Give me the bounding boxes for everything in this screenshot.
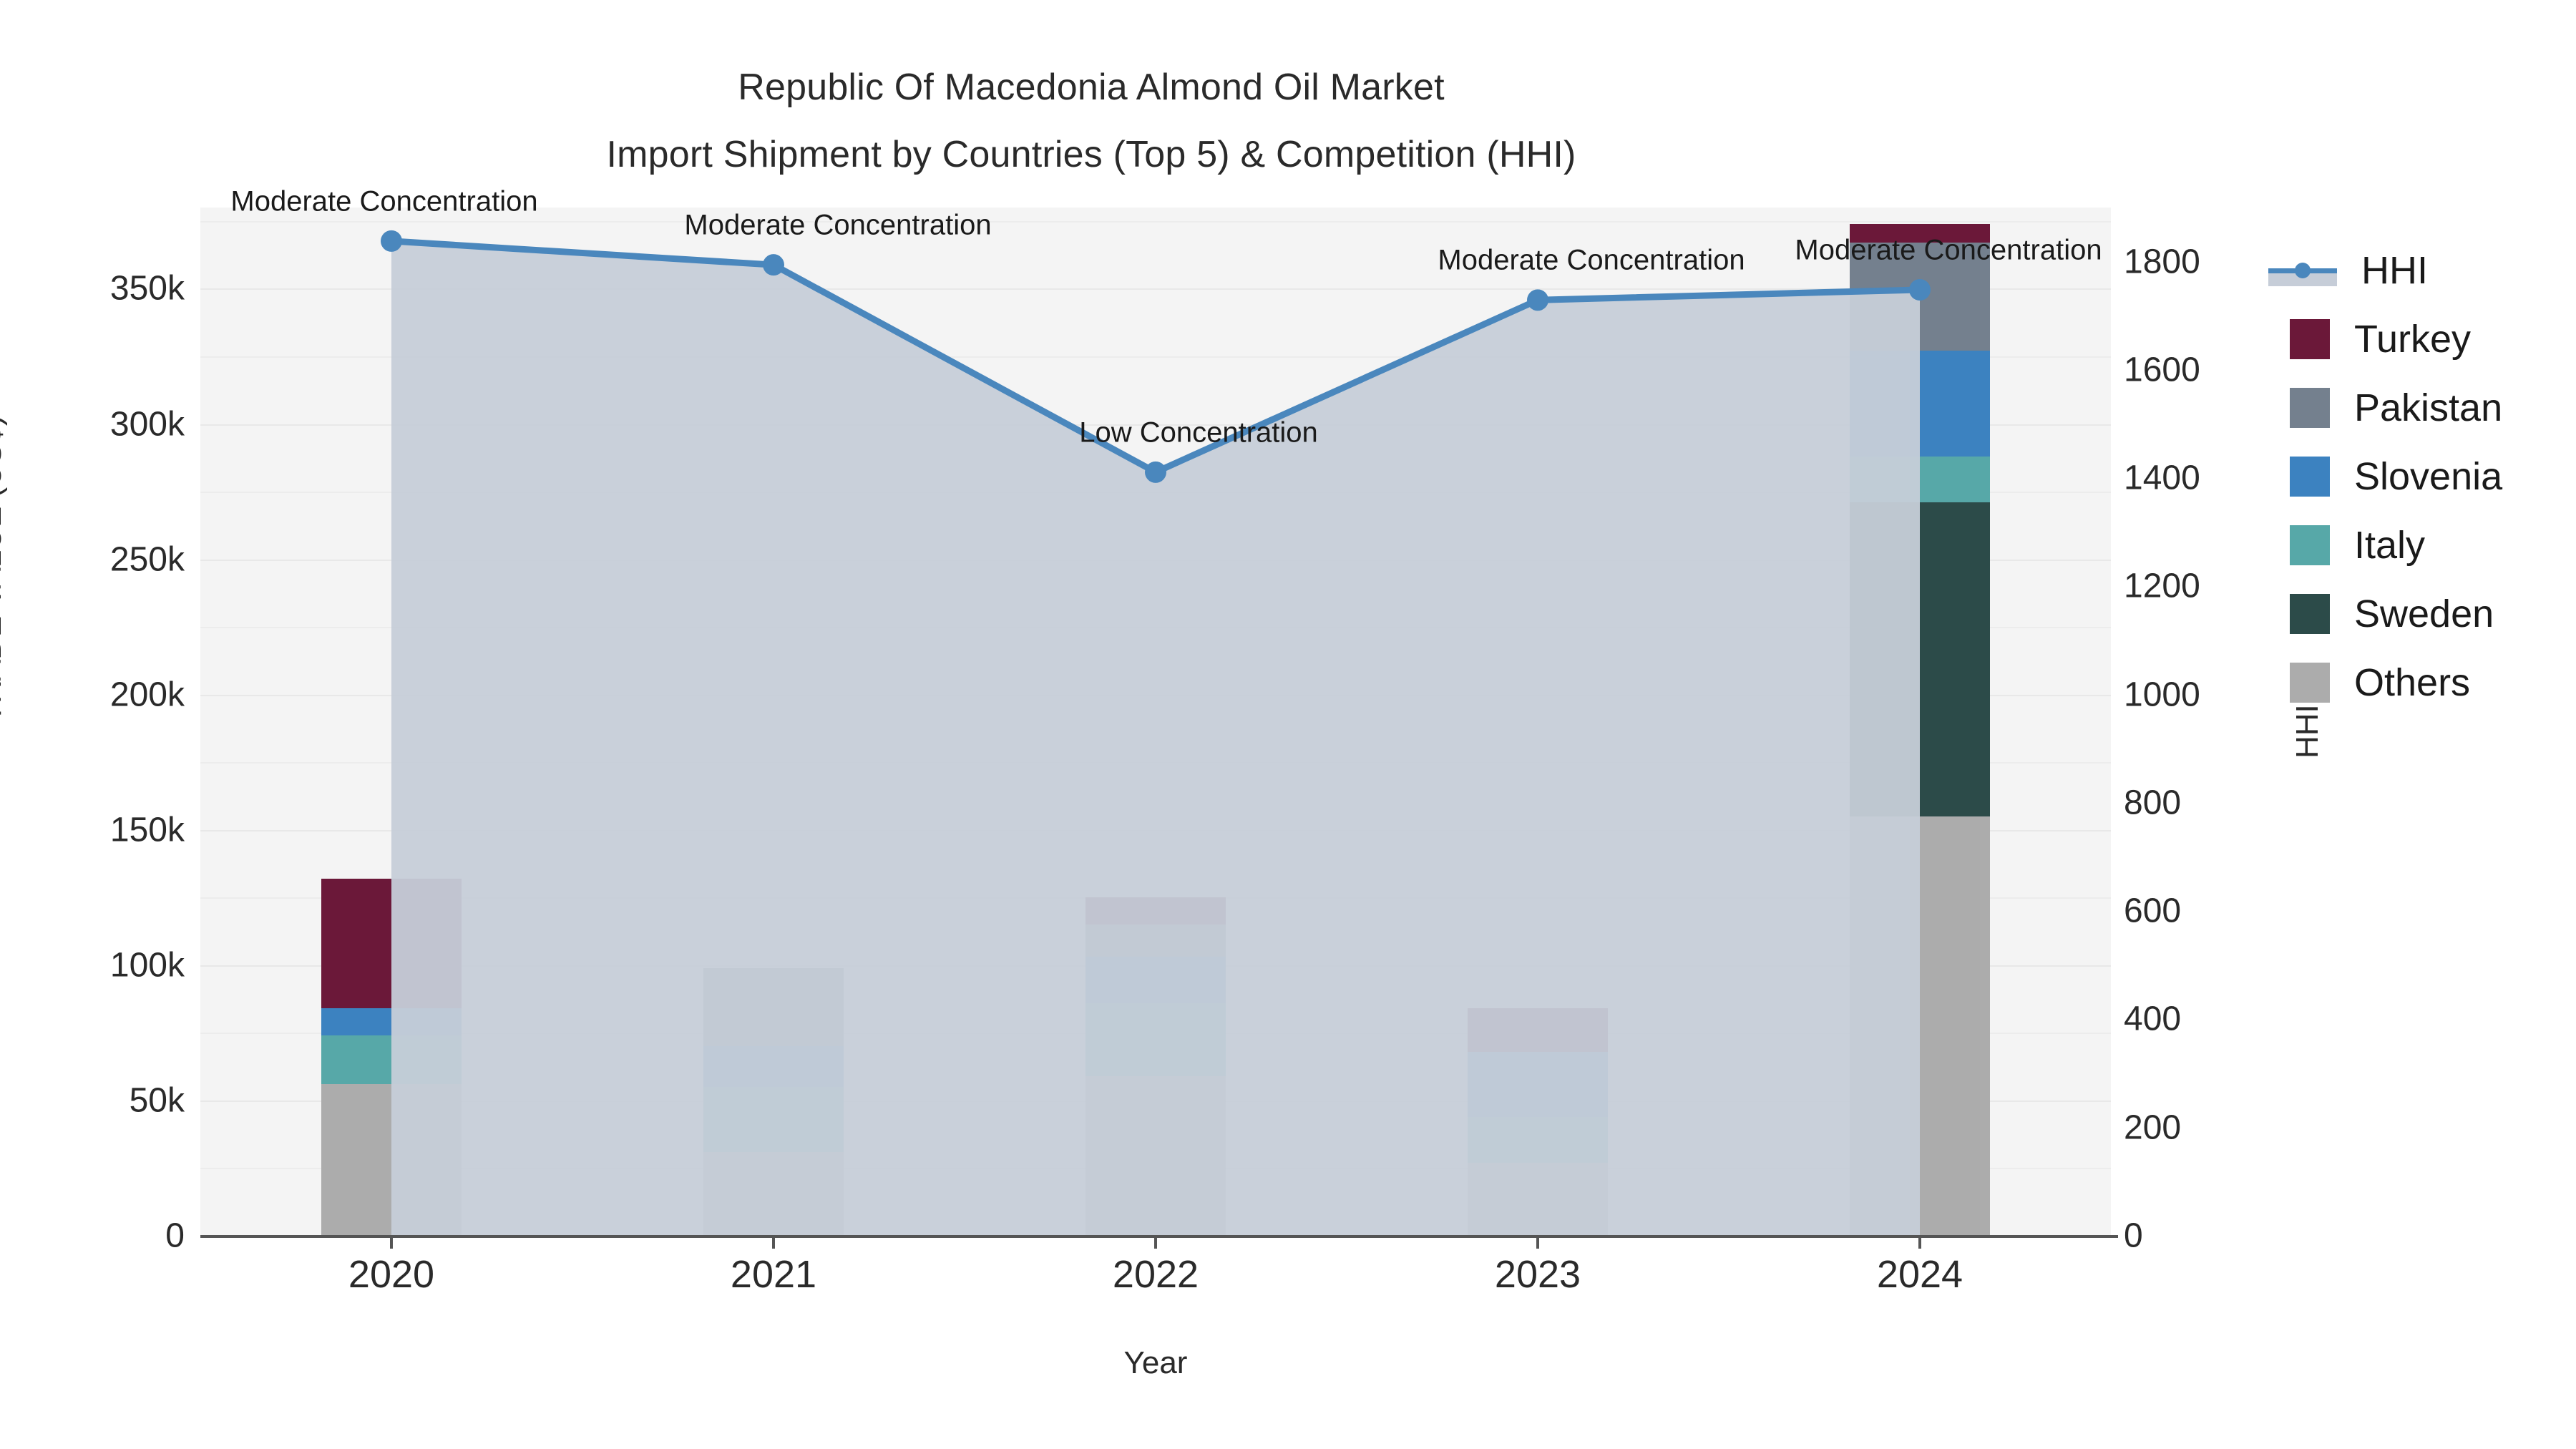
bar-segment-slovenia-2021[interactable]: [703, 1046, 844, 1087]
bar-segment-slovenia-2024[interactable]: [1850, 351, 1990, 456]
legend-item-label: Others: [2354, 660, 2470, 705]
legend-color-swatch: [2290, 457, 2330, 497]
chart-canvas: Republic Of Macedonia Almond Oil Market …: [0, 0, 2576, 1449]
y-tick-left: 200k: [0, 675, 185, 714]
y-tick-right: 1800: [2124, 242, 2281, 281]
gridline: [200, 492, 2111, 493]
legend-color-swatch: [2290, 319, 2330, 359]
bar-segment-pakistan-2021[interactable]: [703, 968, 844, 1047]
chart-subtitle: Import Shipment by Countries (Top 5) & C…: [0, 121, 2182, 188]
y-tick-right: 800: [2124, 783, 2281, 822]
bar-segment-slovenia-2020[interactable]: [321, 1008, 462, 1035]
legend-item-label: Sweden: [2354, 592, 2494, 636]
y-tick-left: 300k: [0, 404, 185, 444]
x-tick-mark: [772, 1236, 775, 1249]
x-tick-mark: [1536, 1236, 1539, 1249]
x-tick-2024: 2024: [1877, 1252, 1963, 1297]
annotation-2020: Moderate Concentration: [230, 185, 537, 218]
legend-item-sweden[interactable]: Sweden: [2283, 580, 2569, 648]
legend-item-slovenia[interactable]: Slovenia: [2283, 442, 2569, 511]
bar-segment-others-2022[interactable]: [1085, 1076, 1226, 1236]
y-tick-right: 1200: [2124, 567, 2281, 606]
legend-item-label: Turkey: [2354, 317, 2471, 361]
annotation-2024: Moderate Concentration: [1795, 234, 2102, 266]
bar-segment-others-2021[interactable]: [703, 1152, 844, 1236]
legend-item-label: Slovenia: [2354, 454, 2502, 499]
bar-segment-italy-2020[interactable]: [321, 1035, 462, 1084]
x-tick-2022: 2022: [1113, 1252, 1199, 1297]
y-tick-right: 600: [2124, 892, 2281, 931]
plot-area: [200, 208, 2111, 1236]
gridline: [200, 356, 2111, 358]
bar-segment-others-2024[interactable]: [1850, 816, 1990, 1236]
bar-segment-sweden-2024[interactable]: [1850, 502, 1990, 816]
bar-segment-slovenia-2023[interactable]: [1468, 1052, 1608, 1117]
legend-item-label: HHI: [2361, 248, 2428, 293]
legend-item-italy[interactable]: Italy: [2283, 511, 2569, 580]
gridline: [200, 695, 2111, 696]
x-tick-mark: [1154, 1236, 1157, 1249]
legend-item-turkey[interactable]: Turkey: [2283, 305, 2569, 374]
bar-segment-slovenia-2022[interactable]: [1085, 957, 1226, 1002]
annotation-2022: Low Concentration: [1079, 416, 1318, 449]
y-tick-right: 200: [2124, 1108, 2281, 1147]
legend-color-swatch: [2290, 525, 2330, 565]
gridline: [200, 627, 2111, 628]
y-tick-left: 0: [0, 1216, 185, 1256]
x-tick-2021: 2021: [731, 1252, 816, 1297]
legend-color-swatch: [2290, 388, 2330, 428]
legend-color-swatch: [2290, 663, 2330, 703]
gridline: [200, 221, 2111, 223]
x-tick-mark: [1918, 1236, 1921, 1249]
legend-item-others[interactable]: Others: [2283, 648, 2569, 717]
y-tick-right: 0: [2124, 1216, 2281, 1256]
bar-segment-italy-2021[interactable]: [703, 1087, 844, 1152]
y-tick-left: 150k: [0, 810, 185, 849]
y-tick-left: 350k: [0, 269, 185, 308]
gridline: [200, 762, 2111, 763]
gridline: [200, 288, 2111, 290]
bar-segment-others-2020[interactable]: [321, 1084, 462, 1236]
bar-segment-italy-2023[interactable]: [1468, 1117, 1608, 1163]
bar-segment-italy-2024[interactable]: [1850, 457, 1990, 502]
x-axis-label: Year: [200, 1345, 2111, 1381]
legend-line-swatch-icon: [2268, 250, 2337, 291]
x-tick-2023: 2023: [1495, 1252, 1581, 1297]
x-tick-2020: 2020: [348, 1252, 434, 1297]
bar-segment-others-2023[interactable]: [1468, 1163, 1608, 1236]
chart-title: Republic Of Macedonia Almond Oil Market: [0, 54, 2182, 121]
x-tick-mark: [390, 1236, 393, 1249]
chart-legend: HHITurkeyPakistanSloveniaItalySwedenOthe…: [2283, 236, 2569, 717]
annotation-2023: Moderate Concentration: [1438, 245, 1745, 277]
legend-item-label: Italy: [2354, 523, 2425, 567]
gridline: [200, 830, 2111, 831]
y-tick-left: 100k: [0, 945, 185, 985]
legend-item-label: Pakistan: [2354, 386, 2502, 430]
y-tick-left: 250k: [0, 540, 185, 579]
bar-segment-turkey-2020[interactable]: [321, 879, 462, 1009]
annotation-2021: Moderate Concentration: [684, 210, 991, 242]
y-tick-right: 1400: [2124, 459, 2281, 498]
chart-title-block: Republic Of Macedonia Almond Oil Market …: [0, 54, 2182, 188]
y-tick-right: 1600: [2124, 350, 2281, 389]
y-tick-right: 1000: [2124, 675, 2281, 714]
x-axis-line: [200, 1235, 2118, 1238]
legend-item-hhi[interactable]: HHI: [2283, 236, 2569, 305]
legend-color-swatch: [2290, 594, 2330, 634]
legend-item-pakistan[interactable]: Pakistan: [2283, 374, 2569, 442]
y-tick-left: 50k: [0, 1080, 185, 1120]
gridline: [200, 560, 2111, 561]
bar-segment-turkey-2023[interactable]: [1468, 1008, 1608, 1052]
bar-segment-pakistan-2022[interactable]: [1085, 924, 1226, 957]
y-tick-right: 400: [2124, 1000, 2281, 1039]
bar-segment-turkey-2022[interactable]: [1085, 897, 1226, 924]
bar-segment-italy-2022[interactable]: [1085, 1003, 1226, 1076]
